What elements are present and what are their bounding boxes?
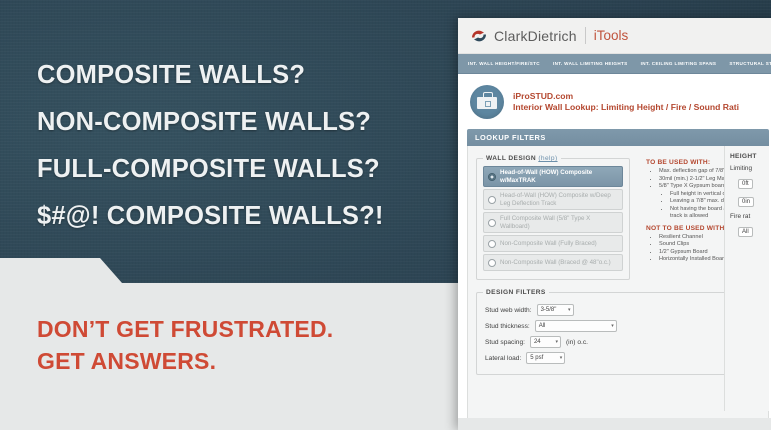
chevron-down-icon: ▾ [555,339,558,345]
chevron-down-icon: ▾ [560,355,563,361]
stud-spacing-select[interactable]: 24 ▾ [530,336,561,348]
cta-line-1: DON’T GET FRUSTRATED. [37,313,333,345]
wall-design-legend: WALL DESIGN (help) [483,155,561,162]
headline-line-4: $#@! COMPOSITE WALLS?! [37,193,457,240]
page-subtitle: Interior Wall Lookup: Limiting Height / … [513,102,739,113]
wall-design-option-how-maxtrak[interactable]: Head-of-Wall (HOW) Composite w/MaxTRAK [483,166,623,187]
lateral-load-select[interactable]: 5 psf ▾ [526,352,565,364]
headline-line-1: COMPOSITE WALLS? [37,52,457,99]
select-value: 24 [534,339,541,345]
stud-spacing-label: Stud spacing: [485,339,525,346]
radio-icon[interactable] [488,240,496,248]
wall-design-option-label: Non-Composite Wall (Braced @ 48"o.c.) [500,259,611,267]
cta-line-2: GET ANSWERS. [37,345,333,377]
stud-thickness-label: Stud thickness: [485,323,530,330]
itools-browser-window: ClarkDietrich iTools INT. WALL HEIGHT/FI… [458,18,771,430]
wall-design-option-label: Head-of-Wall (HOW) Composite w/MaxTRAK [500,169,618,184]
wall-design-help-link[interactable]: (help) [538,155,557,162]
main-nav[interactable]: INT. WALL HEIGHT/FIRE/STC INT. WALL LIMI… [458,54,771,74]
wall-design-column: WALL DESIGN (help) Head-of-Wall (HOW) Co… [468,155,638,280]
wall-design-option-non-composite-48oc[interactable]: Non-Composite Wall (Braced @ 48"o.c.) [483,254,623,271]
lateral-load-label: Lateral load: [485,355,521,362]
wall-design-legend-text: WALL DESIGN [486,155,536,162]
select-value: 5 psf [530,355,543,361]
radio-icon[interactable] [488,173,496,181]
toolbox-icon [470,85,504,119]
stud-spacing-suffix: (in) o.c. [566,339,588,346]
wall-design-option-label: Non-Composite Wall (Fully Braced) [500,240,597,248]
brand-divider [585,27,586,44]
radio-icon[interactable] [488,219,496,227]
height-inches-value[interactable]: 0in [738,197,754,207]
chevron-down-icon: ▾ [611,323,614,329]
wall-design-option-label: Head-of-Wall (HOW) Composite w/Deep Leg … [500,192,618,207]
chevron-down-icon: ▾ [568,307,571,313]
window-bottom-strip [458,418,771,430]
clarkdietrich-logo-icon [470,28,488,44]
wall-design-option-how-deep-leg[interactable]: Head-of-Wall (HOW) Composite w/Deep Leg … [483,189,623,210]
lateral-load-row: Lateral load: 5 psf ▾ [485,352,753,364]
headline-stack: COMPOSITE WALLS? NON-COMPOSITE WALLS? FU… [37,52,457,240]
select-value: 3-5/8" [541,307,557,313]
lookup-filters-title: LOOKUP FILTERS [475,133,546,142]
stud-web-width-label: Stud web width: [485,307,532,314]
filters-body: WALL DESIGN (help) Head-of-Wall (HOW) Co… [467,146,769,421]
stud-thickness-select[interactable]: All ▾ [535,320,617,332]
app-logo-bar: ClarkDietrich iTools [458,18,771,54]
product-name: iTools [594,28,629,43]
headline-line-2: NON-COMPOSITE WALLS? [37,99,457,146]
nav-item-structural-stud[interactable]: STRUCTURAL STUD [729,61,771,66]
nav-item-int-ceiling-limiting-spans[interactable]: INT. CEILING LIMITING SPANS [641,61,717,66]
stud-thickness-row: Stud thickness: All ▾ [485,320,753,332]
design-filters-group: DESIGN FILTERS Stud web width: 3-5/8" ▾ … [476,289,760,375]
lookup-filters-header: LOOKUP FILTERS [467,129,769,146]
wall-design-option-label: Full Composite Wall (5/8" Type X Wallboa… [500,215,618,230]
design-filters-legend: DESIGN FILTERS [483,289,549,296]
nav-item-int-wall-limiting-heights[interactable]: INT. WALL LIMITING HEIGHTS [553,61,628,66]
headline-line-3: FULL-COMPOSITE WALLS? [37,146,457,193]
fire-rating-label: Fire rat [730,213,769,220]
page-header: iProSTUD.com Interior Wall Lookup: Limit… [458,74,771,129]
radio-icon[interactable] [488,196,496,204]
cta-block: DON’T GET FRUSTRATED. GET ANSWERS. [37,313,333,377]
fire-rating-value[interactable]: All [738,227,753,237]
brand-name: ClarkDietrich [494,28,577,44]
stud-web-width-row: Stud web width: 3-5/8" ▾ [485,304,753,316]
height-feet-value[interactable]: 0ft [738,179,753,189]
select-value: All [539,323,546,329]
height-panel-subtitle: Limiting [730,165,769,172]
height-panel: HEIGHT Limiting 0ft 0in Fire rat All [724,146,769,411]
stud-spacing-row: Stud spacing: 24 ▾ (in) o.c. [485,336,753,348]
wall-design-option-full-composite[interactable]: Full Composite Wall (5/8" Type X Wallboa… [483,212,623,233]
height-panel-title: HEIGHT [730,153,769,160]
site-name: iProSTUD.com [513,91,739,102]
nav-item-int-wall-height-fire-stc[interactable]: INT. WALL HEIGHT/FIRE/STC [468,61,540,66]
stud-web-width-select[interactable]: 3-5/8" ▾ [537,304,574,316]
wall-design-group: WALL DESIGN (help) Head-of-Wall (HOW) Co… [476,155,630,280]
radio-icon[interactable] [488,259,496,267]
wall-design-option-non-composite-fully-braced[interactable]: Non-Composite Wall (Fully Braced) [483,235,623,252]
